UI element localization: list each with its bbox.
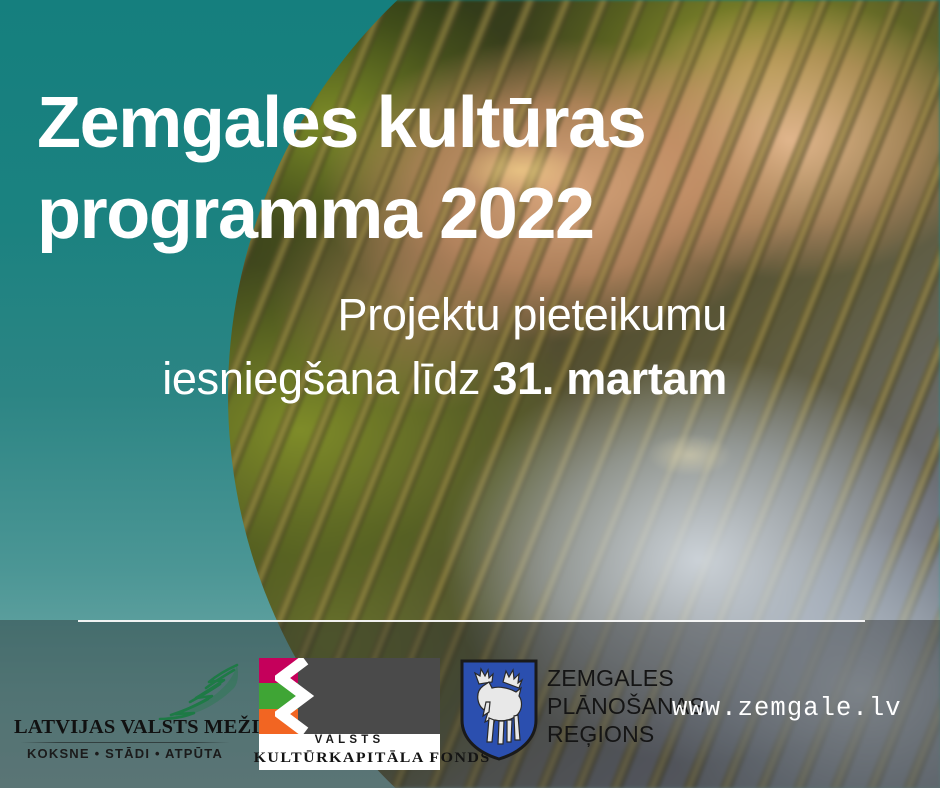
subtitle-line-2-prefix: iesniegšana līdz: [162, 353, 492, 404]
zpr-name: ZEMGALES PLĀNOŠANAS REĢIONS: [547, 664, 667, 748]
title-line-1: Zemgales kultūras: [37, 83, 645, 163]
logo-vkkf[interactable]: VALSTS KULTŪRKAPITĀLA FONDS: [259, 658, 440, 770]
page-title: Zemgales kultūras programma 2022: [37, 78, 737, 259]
zpr-line-3: REĢIONS: [547, 720, 667, 748]
divider-line: [78, 620, 865, 622]
deadline-date: 31. martam: [492, 353, 727, 404]
vkkf-line-1: VALSTS: [259, 734, 440, 746]
lvm-name: LATVIJAS VALSTS MEŽI: [14, 716, 236, 739]
logo-latvijas-valsts-mezi[interactable]: LATVIJAS VALSTS MEŽI KOKSNE • STĀDI • AT…: [14, 662, 236, 772]
subtitle-line-2: iesniegšana līdz 31. martam: [37, 347, 727, 411]
title-line-2: programma 2022: [37, 169, 737, 260]
lvm-tagline: KOKSNE • STĀDI • ATPŪTA: [14, 746, 236, 761]
zpr-line-2: PLĀNOŠANAS: [547, 692, 667, 720]
elk-shield-icon: [459, 658, 539, 762]
spruce-tree-icon: [154, 662, 240, 720]
website-url[interactable]: www.zemgale.lv: [672, 694, 902, 723]
zigzag-mark-icon: [275, 658, 331, 734]
zpr-line-1: ZEMGALES: [547, 664, 667, 692]
poster-canvas: Zemgales kultūras programma 2022 Projekt…: [0, 0, 940, 788]
logo-zemgales-planosanas-regions[interactable]: ZEMGALES PLĀNOŠANAS REĢIONS: [459, 656, 665, 772]
subtitle-line-1: Projektu pieteikumu: [37, 283, 727, 347]
subtitle: Projektu pieteikumu iesniegšana līdz 31.…: [37, 283, 727, 411]
vkkf-line-2: KULTŪRKAPITĀLA FONDS: [254, 750, 446, 767]
logo-row: LATVIJAS VALSTS MEŽI KOKSNE • STĀDI • AT…: [0, 648, 940, 788]
lvm-rule: [20, 742, 230, 743]
